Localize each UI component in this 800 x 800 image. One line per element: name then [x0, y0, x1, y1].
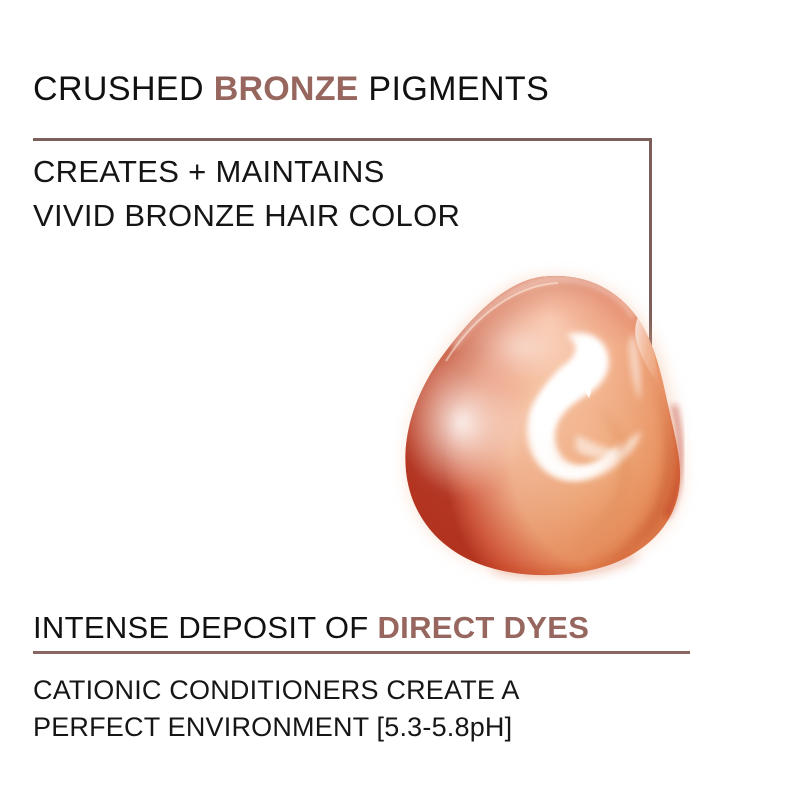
headline-part-2: PIGMENTS: [359, 70, 550, 108]
bracket-horizontal-rule: [33, 138, 652, 141]
bottom-heading-part-1: INTENSE DEPOSIT OF: [33, 610, 377, 645]
bronze-pigments-infographic: CRUSHED BRONZE PIGMENTS CREATES + MAINTA…: [0, 0, 800, 800]
headline: CRUSHED BRONZE PIGMENTS: [33, 72, 773, 108]
bottom-body-block: CATIONIC CONDITIONERS CREATE A PERFECT E…: [33, 672, 653, 745]
subhead-line-2: VIVID BRONZE HAIR COLOR: [33, 194, 633, 238]
subhead-line-1: CREATES + MAINTAINS: [33, 150, 633, 194]
bottom-heading: INTENSE DEPOSIT OF DIRECT DYES: [33, 610, 589, 646]
headline-part-1: CRUSHED: [33, 70, 214, 108]
bronze-cream-dollop-graphic: [390, 255, 710, 585]
bottom-body-line-2: PERFECT ENVIRONMENT [5.3-5.8pH]: [33, 709, 653, 746]
subhead-block: CREATES + MAINTAINS VIVID BRONZE HAIR CO…: [33, 150, 633, 238]
bottom-heading-underline: [33, 651, 690, 654]
top-text-block: CRUSHED BRONZE PIGMENTS: [33, 72, 773, 108]
bottom-body-line-1: CATIONIC CONDITIONERS CREATE A: [33, 672, 653, 709]
bottom-heading-accent-direct-dyes: DIRECT DYES: [377, 610, 589, 645]
headline-accent-bronze: BRONZE: [214, 70, 359, 108]
